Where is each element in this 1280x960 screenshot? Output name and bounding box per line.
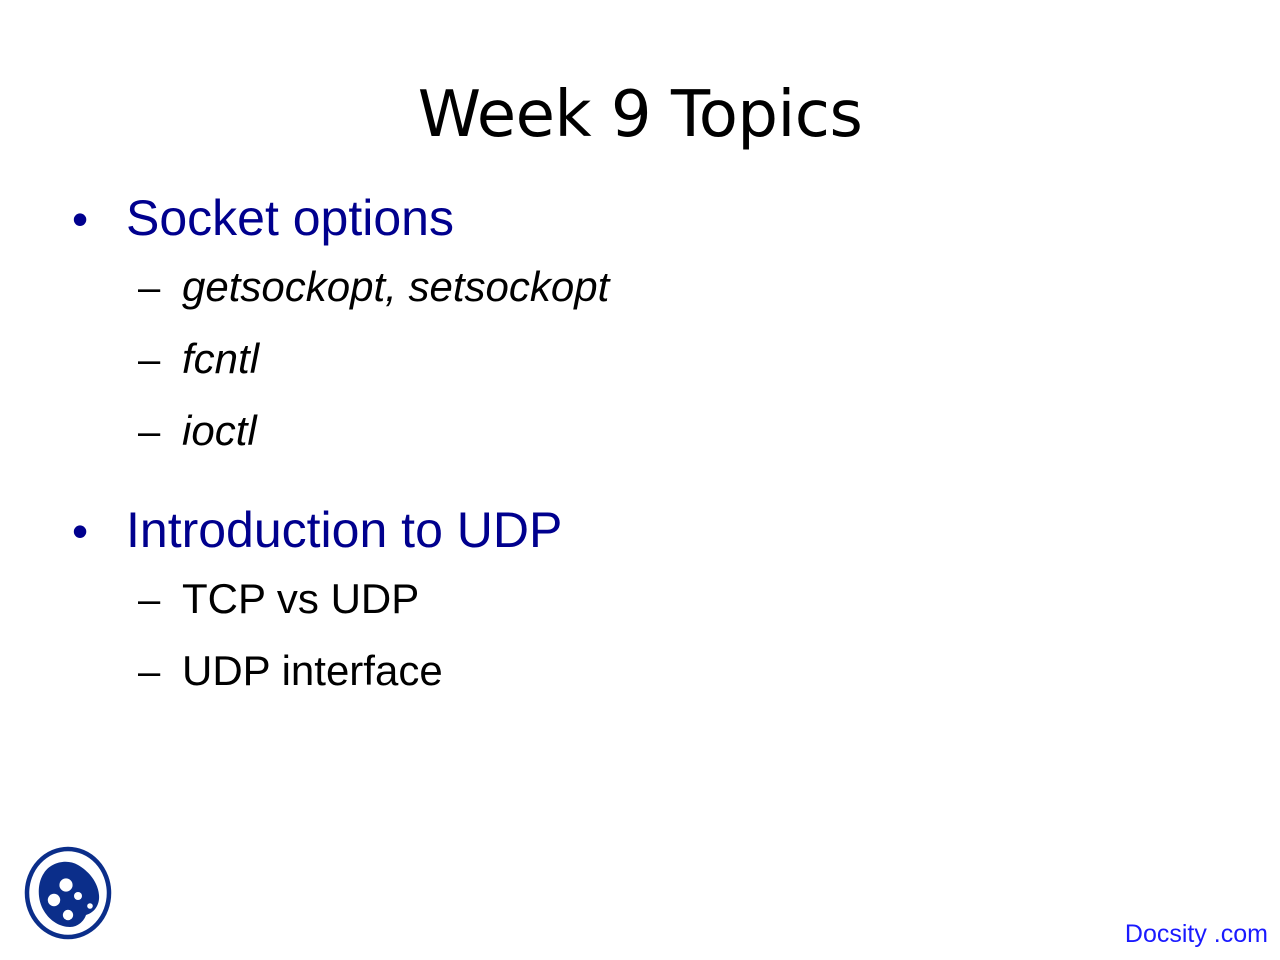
list-item-label: Socket options — [126, 190, 454, 246]
list-item-label: Introduction to UDP — [126, 502, 562, 558]
list-item-label: fcntl — [182, 334, 259, 384]
cookie-logo-icon — [20, 843, 116, 943]
bullet-dot-icon: • — [72, 191, 126, 247]
bullet-dash-icon: – — [138, 647, 182, 697]
docsity-logo — [20, 843, 116, 943]
page-title: Week 9 Topics — [0, 82, 1280, 149]
list-item: – ioctl — [0, 406, 1280, 478]
list-item-label: UDP interface — [182, 646, 443, 696]
list-item: – getsockopt, setsockopt — [0, 262, 1280, 334]
bullet-dot-icon: • — [72, 503, 126, 559]
list-item-label: TCP vs UDP — [182, 574, 419, 624]
list-item: – fcntl — [0, 334, 1280, 406]
bullet-dash-icon: – — [138, 407, 182, 457]
list-item: – UDP interface — [0, 646, 1280, 718]
slide-canvas: Week 9 Topics • Socket options – getsock… — [0, 0, 1280, 960]
bullet-dash-icon: – — [138, 263, 182, 313]
list-item: – TCP vs UDP — [0, 574, 1280, 646]
list-item-label: getsockopt, setsockopt — [182, 262, 609, 312]
bullet-dash-icon: – — [138, 575, 182, 625]
list-item: • Introduction to UDP — [0, 502, 1280, 574]
list-item: • Socket options — [0, 190, 1280, 262]
brand-watermark: Docsity .com — [1125, 920, 1268, 949]
bullet-list: • Socket options – getsockopt, setsockop… — [0, 190, 1280, 718]
bullet-dash-icon: – — [138, 335, 182, 385]
list-item-label: ioctl — [182, 406, 257, 456]
